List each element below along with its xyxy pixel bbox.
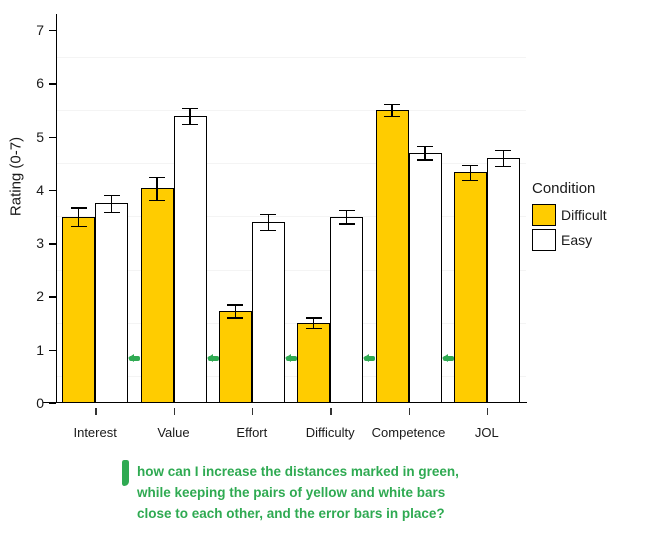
annotation-line: close to each other, and the error bars … [137,504,459,525]
y-tick-mark [49,30,56,31]
error-bar-stem [424,146,425,160]
error-bar-cap [495,150,511,151]
bar-value-difficult[interactable] [141,188,174,403]
x-tick-label-jol: JOL [475,425,499,440]
bar-jol-easy[interactable] [487,158,520,403]
error-bar-stem [391,104,392,116]
legend-swatch-easy [532,229,556,251]
legend-label-difficult: Difficult [561,207,607,223]
error-bar-stem [156,177,157,200]
error-bar-cap [495,166,511,167]
green-gap-marker [364,356,375,361]
y-tick-label: 6 [20,76,44,90]
error-bar-cap [384,104,400,105]
error-bar-cap [462,180,478,181]
error-bar-cap [104,195,120,196]
x-tick-mark [95,408,96,415]
y-tick-mark [49,350,56,351]
gridline [56,163,526,164]
plot-area [56,14,526,403]
annotation-line: how can I increase the distances marked … [137,462,459,483]
error-bar-cap [182,124,198,125]
error-bar-stem [78,207,79,225]
error-bar-cap [260,230,276,231]
error-bar-cap [306,328,322,329]
green-gap-marker [208,356,219,361]
x-tick-mark [409,408,410,415]
error-bar-stem [313,317,314,328]
error-bar-cap [339,223,355,224]
bar-difficulty-easy[interactable] [330,217,363,404]
legend-swatch-difficult [532,204,556,226]
chart-figure: Rating (0-7) Condition DifficultEasy how… [0,0,651,546]
x-tick-label-value: Value [157,425,189,440]
annotation-line: while keeping the pairs of yellow and wh… [137,483,459,504]
error-bar-cap [149,177,165,178]
error-bar-stem [503,150,504,166]
legend-entries: DifficultEasy [532,204,644,251]
bar-effort-difficult[interactable] [219,311,252,403]
bar-value-easy[interactable] [174,116,207,403]
bar-jol-difficult[interactable] [454,172,487,403]
error-bar-cap [227,317,243,318]
legend: Condition DifficultEasy [532,180,644,254]
y-tick-mark [49,83,56,84]
annotation-text: how can I increase the distances marked … [137,462,459,525]
y-tick-mark [49,190,56,191]
error-bar-cap [260,214,276,215]
y-tick-mark [49,243,56,244]
x-tick-label-effort: Effort [236,425,267,440]
legend-label-easy: Easy [561,232,592,248]
bar-effort-easy[interactable] [252,222,285,403]
error-bar-cap [417,146,433,147]
green-gap-marker [129,356,140,361]
error-bar-cap [417,159,433,160]
error-bar-cap [227,304,243,305]
y-tick-mark [49,296,56,297]
gridline [56,110,526,111]
error-bar-cap [149,200,165,201]
error-bar-stem [470,165,471,180]
x-tick-label-competence: Competence [372,425,446,440]
error-bar-cap [306,317,322,318]
x-tick-mark [487,408,488,415]
bar-interest-difficult[interactable] [62,217,95,404]
error-bar-cap [104,212,120,213]
green-gap-marker [286,356,297,361]
legend-item-easy[interactable]: Easy [532,229,644,251]
y-tick-label: 4 [20,183,44,197]
bar-competence-easy[interactable] [409,153,442,403]
error-bar-stem [268,214,269,230]
x-tick-mark [174,408,175,415]
y-tick-label: 0 [20,396,44,410]
error-bar-stem [346,210,347,224]
x-tick-label-interest: Interest [73,425,116,440]
error-bar-cap [462,165,478,166]
plot-inner [56,14,526,403]
error-bar-stem [189,108,190,124]
bar-difficulty-difficult[interactable] [297,323,330,403]
annotation-callout: how can I increase the distances marked … [122,462,542,525]
error-bar-cap [384,116,400,117]
green-gap-marker [443,356,454,361]
y-tick-label: 2 [20,289,44,303]
x-tick-mark [252,408,253,415]
y-tick-mark [49,137,56,138]
legend-title: Condition [532,180,644,197]
gridline [56,57,526,58]
error-bar-cap [71,226,87,227]
error-bar-stem [111,195,112,212]
x-axis-line [43,402,527,403]
x-tick-label-difficulty: Difficulty [306,425,355,440]
legend-item-difficult[interactable]: Difficult [532,204,644,226]
y-tick-label: 7 [20,23,44,37]
y-tick-label: 3 [20,236,44,250]
error-bar-cap [71,207,87,208]
error-bar-cap [182,108,198,109]
y-tick-mark [49,403,56,404]
bar-interest-easy[interactable] [95,203,128,403]
error-bar-stem [235,304,236,317]
annotation-marker-icon [122,460,129,486]
y-tick-label: 5 [20,130,44,144]
error-bar-cap [339,210,355,211]
bar-competence-difficult[interactable] [376,110,409,403]
y-axis-line [56,14,57,403]
y-tick-label: 1 [20,343,44,357]
x-tick-mark [330,408,331,415]
